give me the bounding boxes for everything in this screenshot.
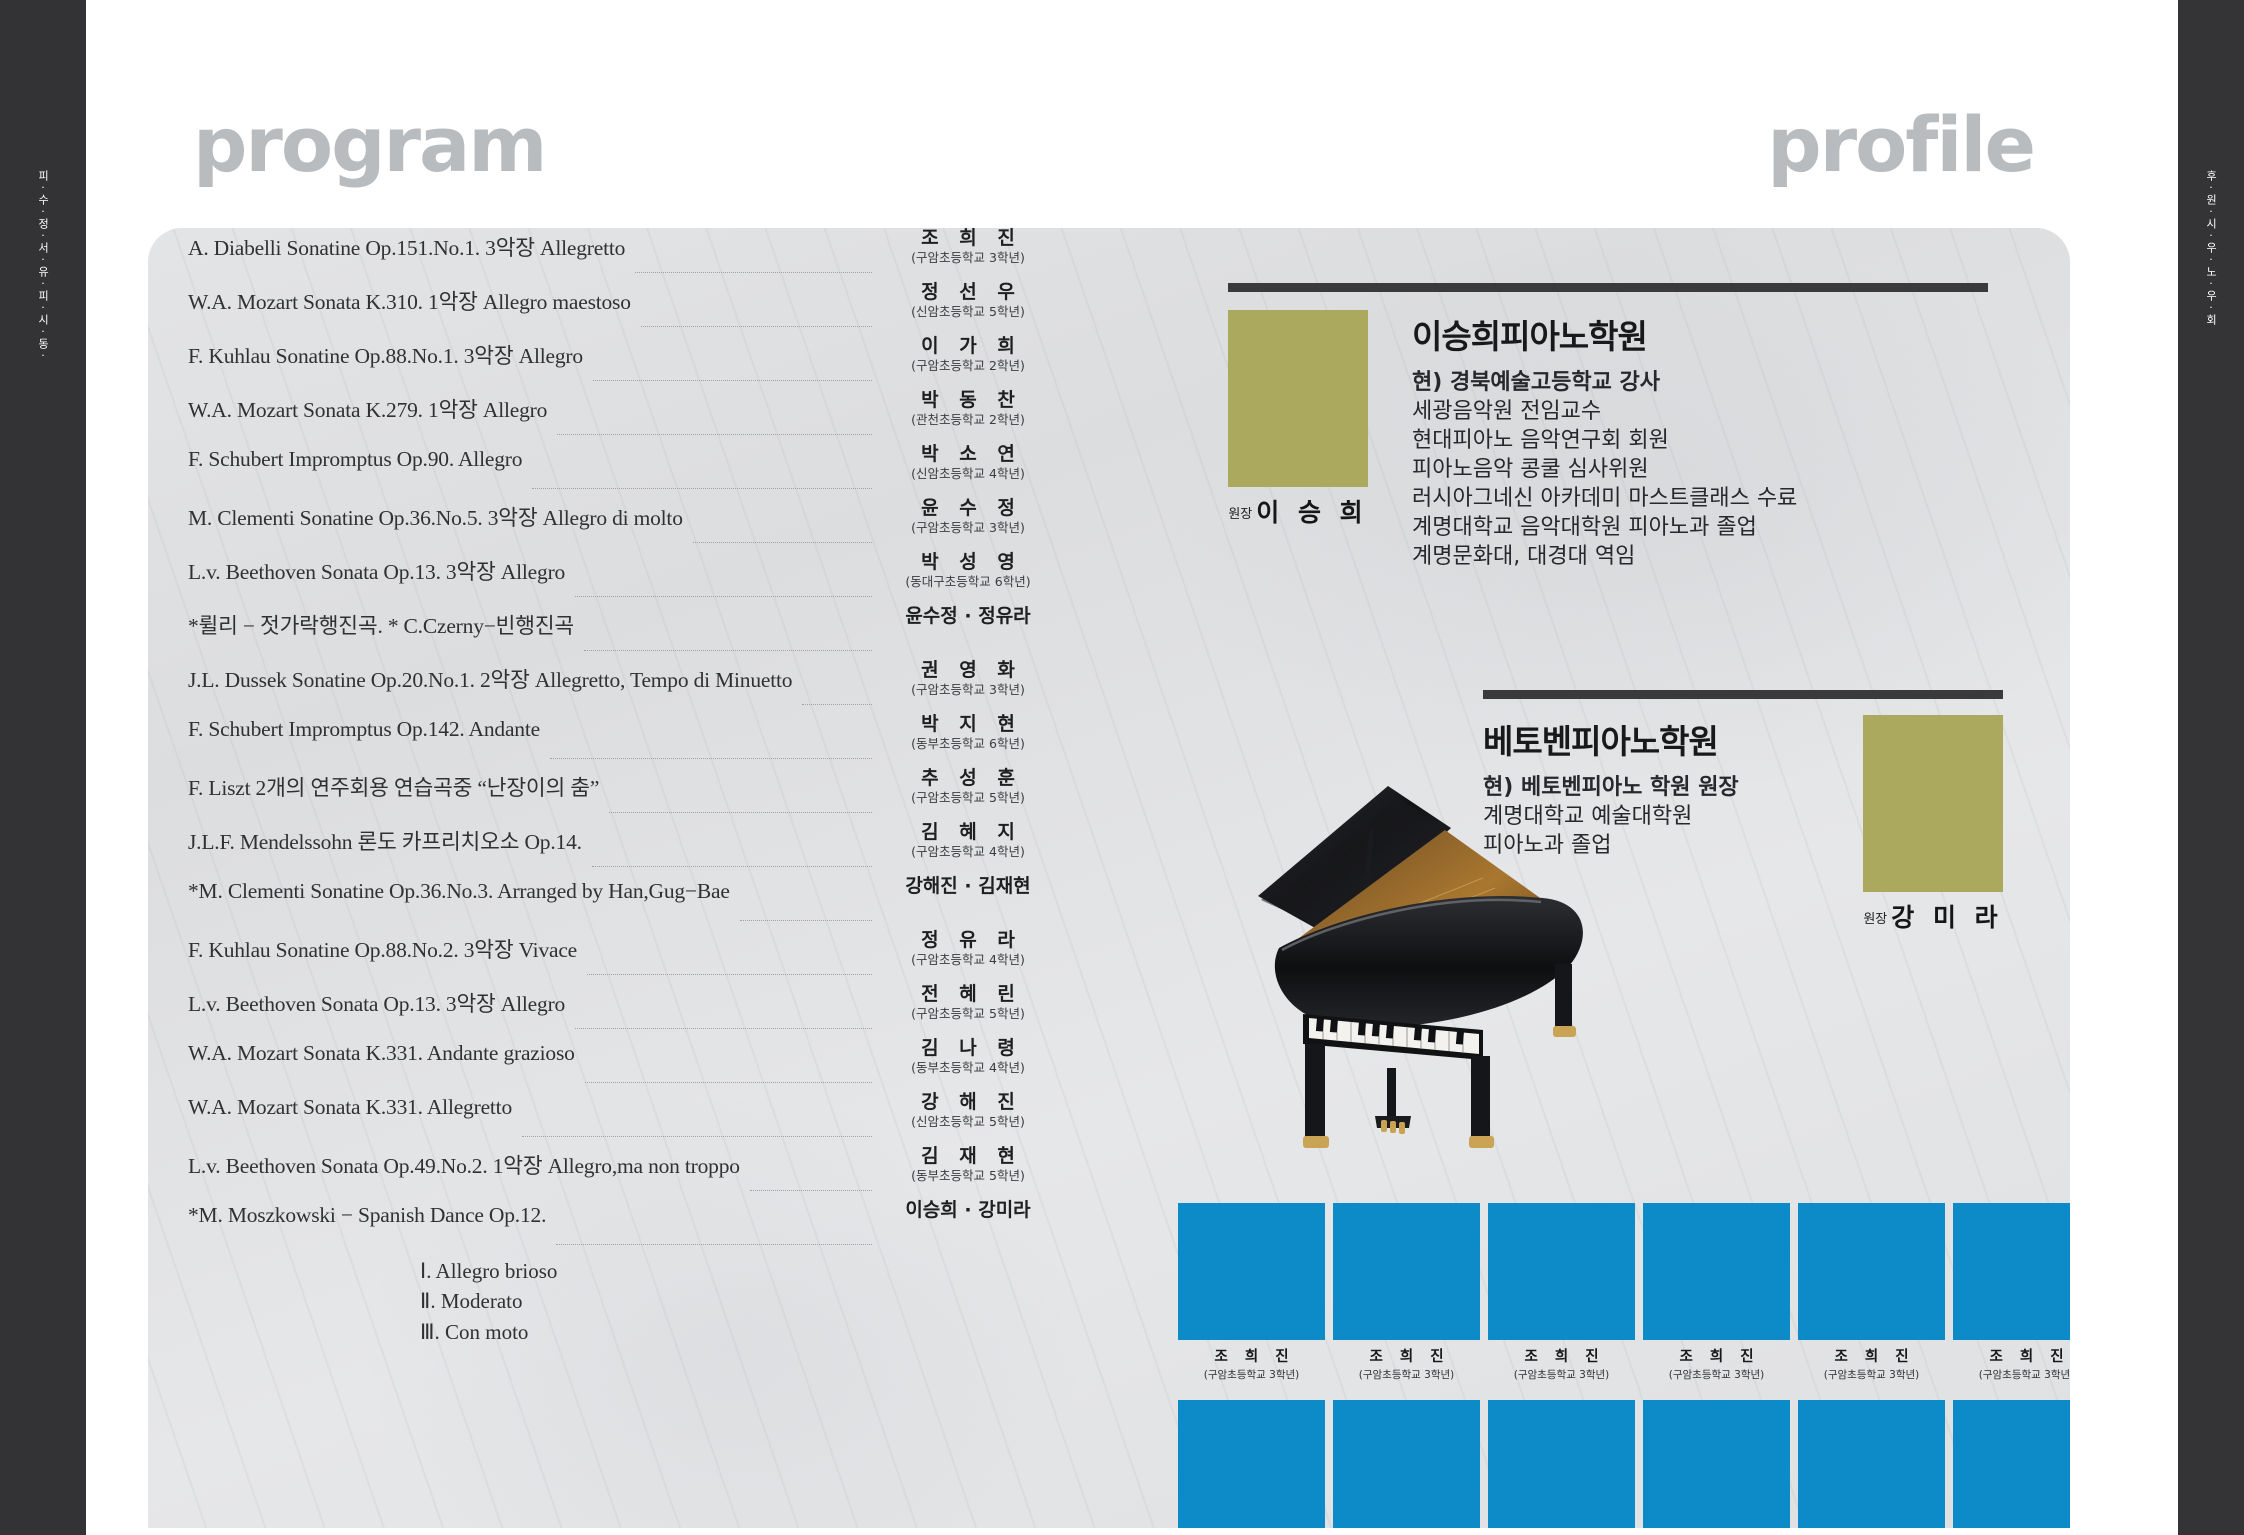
program-performer: 김 혜 지(구암초등학교 4학년): [878, 822, 1058, 859]
leader-dots: [557, 434, 872, 435]
academy-name-1: 이승희피아노학원: [1412, 310, 1988, 358]
photo-student-name: 조 희 진: [1178, 1345, 1325, 1366]
credential-line: 러시아그네신 아카데미 마스트클래스 수료: [1412, 484, 1988, 513]
student-photo: [1953, 1203, 2070, 1340]
credential-line: 계명대학교 음악대학원 피아노과 졸업: [1412, 513, 1988, 542]
program-piece-title: W.A. Mozart Sonata K.310. 1악장 Allegro ma…: [188, 282, 631, 316]
leader-dots: [609, 812, 872, 813]
photo-student-school: (구암초등학교 3학년): [1643, 1367, 1790, 1382]
performer-name: 김 재 현: [878, 1146, 1058, 1168]
portrait-photo-1: [1228, 310, 1368, 487]
leader-dots: [575, 1028, 872, 1029]
leader-dots: [550, 758, 872, 759]
program-performer: 정 유 라(구암초등학교 4학년): [878, 930, 1058, 967]
photo-student-name: 조 희 진: [1643, 1345, 1790, 1366]
leader-dots: [532, 488, 872, 489]
photo-student-school: (구암초등학교 3학년): [1953, 1367, 2070, 1382]
program-piece-title: J.L. Dussek Sonatine Op.20.No.1. 2악장 All…: [188, 660, 792, 694]
program-row: W.A. Mozart Sonata K.331. Andante grazio…: [188, 1038, 1058, 1092]
program-piece-title: M. Clementi Sonatine Op.36.No.5. 3악장 All…: [188, 498, 683, 532]
photo-student-name: 조 희 진: [1488, 1345, 1635, 1366]
right-sidebar-vertical-text: 후·원·시·우·노·우·회: [2206, 170, 2217, 325]
photo-caption: 조 희 진(구암초등학교 3학년): [1643, 1345, 1790, 1382]
program-piece-title: L.v. Beethoven Sonata Op.49.No.2. 1악장 Al…: [188, 1146, 740, 1180]
performer-name: 윤수정 · 정유라: [878, 606, 1058, 628]
credential-line: 현) 경북예술고등학교 강사: [1412, 368, 1988, 397]
program-row: L.v. Beethoven Sonata Op.13. 3악장 Allegro…: [188, 552, 1058, 606]
performer-school: (관천초등학교 2학년): [878, 413, 1058, 427]
student-photo: [1488, 1203, 1635, 1340]
performer-school: (동대구초등학교 6학년): [878, 575, 1058, 589]
portrait-name-1: 이 승 희: [1256, 498, 1367, 527]
photo-grid-cell: 조 희 진(구암초등학교 3학년): [1798, 1203, 1945, 1382]
portrait-caption-2: 원장강 미 라: [1863, 898, 2003, 934]
program-row: F. Schubert Impromptus Op.142. Andante박 …: [188, 714, 1058, 768]
profile-heading: profile: [1767, 100, 2034, 189]
photo-grid: 조 희 진(구암초등학교 3학년)조 희 진(구암초등학교 3학년)조 희 진(…: [1178, 1203, 2070, 1528]
performer-school: (구암초등학교 3학년): [878, 521, 1058, 535]
program-row: M. Clementi Sonatine Op.36.No.5. 3악장 All…: [188, 498, 1058, 552]
program-row: F. Schubert Impromptus Op.90. Allegro박 소…: [188, 444, 1058, 498]
leader-dots: [635, 272, 872, 273]
program-row: F. Kuhlau Sonatine Op.88.No.1. 3악장 Alleg…: [188, 336, 1058, 390]
performer-name: 추 성 훈: [878, 768, 1058, 790]
profile-rule-1: [1228, 283, 1988, 292]
photo-grid-cell: 조 희 진(구암초등학교 3학년): [1643, 1203, 1790, 1382]
performer-name: 박 지 현: [878, 714, 1058, 736]
credential-line: 계명문화대, 대경대 역임: [1412, 542, 1988, 571]
student-photo: [1178, 1400, 1325, 1528]
left-sidebar: 피·수·정·서·유·피·시·동·: [0, 0, 86, 1535]
program-list: A. Diabelli Sonatine Op.151.No.1. 3악장 Al…: [188, 228, 1058, 1347]
program-piece-title: F. Schubert Impromptus Op.142. Andante: [188, 714, 540, 742]
leader-dots: [593, 380, 872, 381]
photo-grid-cell: 조 희 진(구암초등학교 3학년): [1488, 1400, 1635, 1528]
photo-caption: 조 희 진(구암초등학교 3학년): [1953, 1345, 2070, 1382]
leader-dots: [575, 596, 872, 597]
student-photo: [1643, 1203, 1790, 1340]
program-performer: 권 영 화(구암초등학교 3학년): [878, 660, 1058, 697]
leader-dots: [556, 1244, 872, 1245]
program-row: W.A. Mozart Sonata K.331. Allegretto강 해 …: [188, 1092, 1058, 1146]
program-piece-title: W.A. Mozart Sonata K.331. Andante grazio…: [188, 1038, 575, 1066]
leader-dots: [802, 704, 872, 705]
program-row: W.A. Mozart Sonata K.279. 1악장 Allegro박 동…: [188, 390, 1058, 444]
program-piece-title: *M. Clementi Sonatine Op.36.No.3. Arrang…: [188, 876, 730, 904]
right-sidebar: 후·원·시·우·노·우·회: [2178, 0, 2244, 1535]
photo-student-school: (구암초등학교 3학년): [1488, 1367, 1635, 1382]
program-piece-title: W.A. Mozart Sonata K.279. 1악장 Allegro: [188, 390, 547, 424]
performer-name: 강해진 · 김재현: [878, 876, 1058, 898]
photo-student-name: 조 희 진: [1333, 1345, 1480, 1366]
photo-grid-cell: 조 희 진(구암초등학교 3학년): [1333, 1400, 1480, 1528]
credential-line: 현대피아노 음악연구회 회원: [1412, 426, 1988, 455]
program-row: F. Liszt 2개의 연주회용 연습곡중 “난장이의 춤”추 성 훈(구암초…: [188, 768, 1058, 822]
profile-rule-2: [1483, 690, 2003, 699]
performer-school: (구암초등학교 2학년): [878, 359, 1058, 373]
academy-credentials-1: 현) 경북예술고등학교 강사세광음악원 전임교수현대피아노 음악연구회 회원피아…: [1412, 368, 1988, 571]
performer-school: (구암초등학교 3학년): [878, 683, 1058, 697]
performer-school: (구암초등학교 3학년): [878, 251, 1058, 265]
credential-line: 피아노음악 콩쿨 심사위원: [1412, 455, 1988, 484]
photo-grid-cell: 조 희 진(구암초등학교 3학년): [1178, 1400, 1325, 1528]
movement-item: Ⅲ. Con moto: [420, 1317, 1058, 1347]
program-performer: 박 소 연(신암초등학교 4학년): [878, 444, 1058, 481]
program-piece-title: *M. Moszkowski − Spanish Dance Op.12.: [188, 1200, 546, 1228]
portrait-role-1: 원장: [1228, 507, 1252, 522]
performer-school: (동부초등학교 4학년): [878, 1061, 1058, 1075]
photo-caption: 조 희 진(구암초등학교 3학년): [1798, 1345, 1945, 1382]
program-performer: 전 혜 린(구암초등학교 5학년): [878, 984, 1058, 1021]
photo-caption: 조 희 진(구암초등학교 3학년): [1488, 1345, 1635, 1382]
credential-line: 세광음악원 전임교수: [1412, 397, 1988, 426]
program-performer: 추 성 훈(구암초등학교 5학년): [878, 768, 1058, 805]
program-row: J.L. Dussek Sonatine Op.20.No.1. 2악장 All…: [188, 660, 1058, 714]
performer-name: 조 희 진: [878, 228, 1058, 250]
student-photo: [1643, 1400, 1790, 1528]
left-sidebar-vertical-text: 피·수·정·서·유·피·시·동·: [38, 170, 49, 362]
student-photo: [1333, 1203, 1480, 1340]
program-performer: 이승희 · 강미라: [878, 1200, 1058, 1222]
performer-name: 김 나 령: [878, 1038, 1058, 1060]
portrait-role-2: 원장: [1863, 912, 1887, 927]
photo-grid-cell: 조 희 진(구암초등학교 3학년): [1953, 1400, 2070, 1528]
photo-student-school: (구암초등학교 3학년): [1798, 1367, 1945, 1382]
program-performer: 이 가 희(구암초등학교 2학년): [878, 336, 1058, 373]
grand-piano-illustration: [1183, 768, 1623, 1168]
program-performer: 박 지 현(동부초등학교 6학년): [878, 714, 1058, 751]
portrait-caption-1: 원장이 승 희: [1228, 493, 1368, 529]
performer-school: (신암초등학교 5학년): [878, 1115, 1058, 1129]
movement-item: Ⅰ. Allegro brioso: [420, 1256, 1058, 1286]
portrait-2-wrap: 원장강 미 라: [1863, 715, 2003, 934]
leader-dots: [750, 1190, 872, 1191]
movement-item: Ⅱ. Moderato: [420, 1286, 1058, 1316]
program-performer: 윤수정 · 정유라: [878, 606, 1058, 628]
leader-dots: [522, 1136, 872, 1137]
program-piece-title: L.v. Beethoven Sonata Op.13. 3악장 Allegro: [188, 552, 565, 586]
performer-school: (구암초등학교 4학년): [878, 953, 1058, 967]
program-performer: 윤 수 정(구암초등학교 3학년): [878, 498, 1058, 535]
photo-grid-cell: 조 희 진(구암초등학교 3학년): [1643, 1400, 1790, 1528]
leader-dots: [584, 650, 872, 651]
performer-name: 강 해 진: [878, 1092, 1058, 1114]
program-row: *륄리 − 젓가락행진곡. * C.Czerny−빈행진곡윤수정 · 정유라: [188, 606, 1058, 660]
profile-block-1: 원장이 승 희 이승희피아노학원 현) 경북예술고등학교 강사세광음악원 전임교…: [1228, 283, 1988, 571]
program-piece-title: F. Kuhlau Sonatine Op.88.No.1. 3악장 Alleg…: [188, 336, 583, 370]
program-piece-title: J.L.F. Mendelssohn 론도 카프리치오소 Op.14.: [188, 822, 582, 856]
performer-school: (신암초등학교 5학년): [878, 305, 1058, 319]
leader-dots: [641, 326, 872, 327]
student-photo: [1178, 1203, 1325, 1340]
performer-name: 정 선 우: [878, 282, 1058, 304]
performer-school: (구암초등학교 4학년): [878, 845, 1058, 859]
photo-student-name: 조 희 진: [1953, 1345, 2070, 1366]
program-row: L.v. Beethoven Sonata Op.13. 3악장 Allegro…: [188, 984, 1058, 1038]
program-performer: 김 재 현(동부초등학교 5학년): [878, 1146, 1058, 1183]
content-panel: A. Diabelli Sonatine Op.151.No.1. 3악장 Al…: [148, 228, 2070, 1528]
performer-school: (구암초등학교 5학년): [878, 791, 1058, 805]
performer-name: 박 소 연: [878, 444, 1058, 466]
student-photo: [1488, 1400, 1635, 1528]
movement-list: Ⅰ. Allegro briosoⅡ. ModeratoⅢ. Con moto: [188, 1256, 1058, 1347]
performer-school: (구암초등학교 5학년): [878, 1007, 1058, 1021]
photo-grid-cell: 조 희 진(구암초등학교 3학년): [1953, 1203, 2070, 1382]
program-row: W.A. Mozart Sonata K.310. 1악장 Allegro ma…: [188, 282, 1058, 336]
performer-name: 전 혜 린: [878, 984, 1058, 1006]
performer-name: 박 동 찬: [878, 390, 1058, 412]
program-row: A. Diabelli Sonatine Op.151.No.1. 3악장 Al…: [188, 228, 1058, 282]
program-piece-title: A. Diabelli Sonatine Op.151.No.1. 3악장 Al…: [188, 228, 625, 262]
performer-name: 정 유 라: [878, 930, 1058, 952]
photo-caption: 조 희 진(구암초등학교 3학년): [1333, 1345, 1480, 1382]
performer-school: (신암초등학교 4학년): [878, 467, 1058, 481]
performer-name: 윤 수 정: [878, 498, 1058, 520]
leader-dots: [592, 866, 872, 867]
leader-dots: [693, 542, 872, 543]
program-piece-title: *륄리 − 젓가락행진곡. * C.Czerny−빈행진곡: [188, 606, 574, 640]
program-row: *M. Moszkowski − Spanish Dance Op.12.이승희…: [188, 1200, 1058, 1254]
program-row: J.L.F. Mendelssohn 론도 카프리치오소 Op.14.김 혜 지…: [188, 822, 1058, 876]
performer-name: 이승희 · 강미라: [878, 1200, 1058, 1222]
photo-grid-cell: 조 희 진(구암초등학교 3학년): [1178, 1203, 1325, 1382]
student-photo: [1798, 1400, 1945, 1528]
program-piece-title: W.A. Mozart Sonata K.331. Allegretto: [188, 1092, 512, 1120]
leader-dots: [740, 920, 872, 921]
program-row: L.v. Beethoven Sonata Op.49.No.2. 1악장 Al…: [188, 1146, 1058, 1200]
leader-dots: [585, 1082, 872, 1083]
photo-grid-cell: 조 희 진(구암초등학교 3학년): [1333, 1203, 1480, 1382]
photo-student-name: 조 희 진: [1798, 1345, 1945, 1366]
performer-name: 이 가 희: [878, 336, 1058, 358]
leader-dots: [587, 974, 872, 975]
program-performer: 김 나 령(동부초등학교 4학년): [878, 1038, 1058, 1075]
performer-name: 김 혜 지: [878, 822, 1058, 844]
portrait-name-2: 강 미 라: [1891, 903, 2002, 932]
student-photo: [1953, 1400, 2070, 1528]
program-row: *M. Clementi Sonatine Op.36.No.3. Arrang…: [188, 876, 1058, 930]
program-piece-title: F. Liszt 2개의 연주회용 연습곡중 “난장이의 춤”: [188, 768, 599, 802]
photo-grid-cell: 조 희 진(구암초등학교 3학년): [1488, 1203, 1635, 1382]
program-performer: 정 선 우(신암초등학교 5학년): [878, 282, 1058, 319]
program-performer: 강해진 · 김재현: [878, 876, 1058, 898]
academy-name-2: 베토벤피아노학원: [1483, 715, 1837, 763]
photo-caption: 조 희 진(구암초등학교 3학년): [1178, 1345, 1325, 1382]
performer-school: (동부초등학교 6학년): [878, 737, 1058, 751]
program-performer: 조 희 진(구암초등학교 3학년): [878, 228, 1058, 265]
program-row: F. Kuhlau Sonatine Op.88.No.2. 3악장 Vivac…: [188, 930, 1058, 984]
program-performer: 박 성 영(동대구초등학교 6학년): [878, 552, 1058, 589]
student-photo: [1798, 1203, 1945, 1340]
program-performer: 강 해 진(신암초등학교 5학년): [878, 1092, 1058, 1129]
photo-grid-cell: 조 희 진(구암초등학교 3학년): [1798, 1400, 1945, 1528]
photo-student-school: (구암초등학교 3학년): [1333, 1367, 1480, 1382]
photo-student-school: (구암초등학교 3학년): [1178, 1367, 1325, 1382]
student-photo: [1333, 1400, 1480, 1528]
program-piece-title: L.v. Beethoven Sonata Op.13. 3악장 Allegro: [188, 984, 565, 1018]
program-piece-title: F. Kuhlau Sonatine Op.88.No.2. 3악장 Vivac…: [188, 930, 577, 964]
program-heading: program: [193, 100, 545, 189]
performer-name: 권 영 화: [878, 660, 1058, 682]
poster-page: 피·수·정·서·유·피·시·동· 후·원·시·우·노·우·회 program p…: [0, 0, 2244, 1535]
program-piece-title: F. Schubert Impromptus Op.90. Allegro: [188, 444, 522, 472]
performer-school: (동부초등학교 5학년): [878, 1169, 1058, 1183]
portrait-photo-2: [1863, 715, 2003, 892]
performer-name: 박 성 영: [878, 552, 1058, 574]
portrait-1-wrap: 원장이 승 희: [1228, 310, 1368, 571]
program-performer: 박 동 찬(관천초등학교 2학년): [878, 390, 1058, 427]
